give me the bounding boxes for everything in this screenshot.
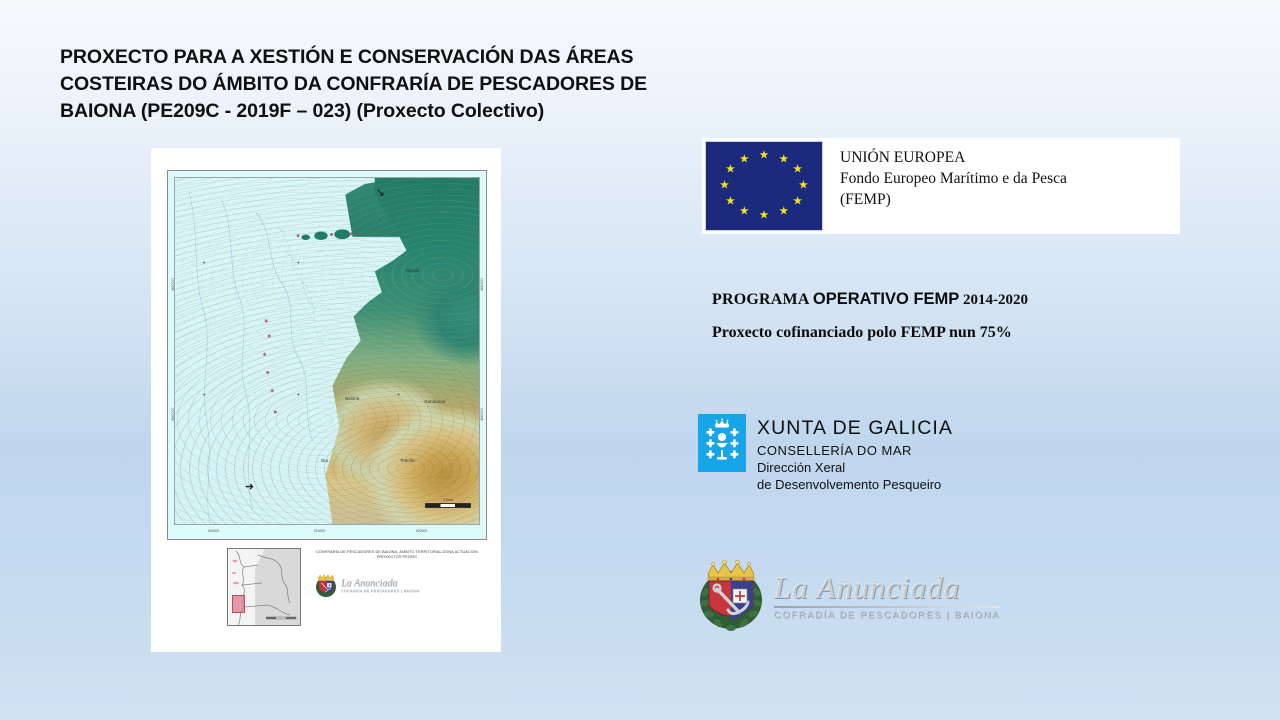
map-scalebar-bar bbox=[425, 503, 471, 508]
programa-line-1: PROGRAMA OPERATIVO FEMP 2014-2020 bbox=[712, 288, 1028, 311]
xunta-emblem-icon bbox=[698, 414, 746, 472]
inset-highlight-area bbox=[232, 595, 245, 614]
map-footer-logo: La Anunciada COFRADÍA DE PESCADORES | BA… bbox=[315, 572, 420, 598]
map-annotation-arrow: ↘ bbox=[376, 188, 385, 199]
cofradia-wordmark-small: La Anunciada COFRADÍA DE PESCADORES | BA… bbox=[341, 578, 420, 593]
map-tick-cross: ✛ bbox=[202, 261, 206, 265]
inset-locator-map bbox=[227, 548, 301, 626]
map-place-label: Oia bbox=[321, 458, 328, 463]
map-axis-label-bottom: 510000 bbox=[314, 529, 325, 533]
map-caption-line-1: CONFRARÍA DE PESCADORES DE BAIONA. ÁMBIT… bbox=[316, 550, 453, 554]
title-line-1: PROXECTO PARA A XESTIÓN E CONSERVACIÓN D… bbox=[60, 44, 700, 71]
map-tick-cross: ✛ bbox=[297, 261, 301, 265]
xunta-text-container: XUNTA DE GALICIA CONSELLERÍA DO MAR Dire… bbox=[757, 414, 953, 493]
cofradia-wordmark: La Anunciada COFRADÍA DE PESCADORES | BA… bbox=[774, 571, 1000, 621]
map-axis-label-left: 4640000 bbox=[171, 408, 175, 421]
eu-flag-icon: ★ ★ ★ ★ ★ ★ ★ ★ ★ ★ ★ ★ bbox=[705, 141, 823, 231]
map-axis-label-left: 4660000 bbox=[171, 278, 175, 291]
eu-line-2: Fondo Europeo Marítimo e da Pesca bbox=[840, 168, 1180, 189]
map-annotation-arrow: ➜ bbox=[245, 482, 254, 493]
programa-femp-block: PROGRAMA OPERATIVO FEMP 2014-2020 Proxec… bbox=[712, 288, 1028, 344]
title-line-3: BAIONA (PE209C - 2019F – 023) (Proxecto … bbox=[60, 98, 700, 125]
programa-years: 2014-2020 bbox=[959, 292, 1028, 308]
cofradia-subtitle: COFRADÍA DE PESCADORES | BAIONA bbox=[774, 610, 1000, 621]
cofradia-logo-block: La Anunciada COFRADÍA DE PESCADORES | BA… bbox=[698, 556, 1000, 632]
map-scalebar: 0 5 km bbox=[425, 498, 471, 508]
cofradia-crest-icon bbox=[315, 572, 337, 598]
map-canvas: ✛ ✛ ✛ ✛ ✛ Nigrán Baiona Gondomar Oia Tom… bbox=[174, 177, 480, 525]
map-axis-label-right: 4640000 bbox=[480, 408, 484, 421]
title-line-2: COSTEIRAS DO ÁMBITO DA CONFRARÍA DE PESC… bbox=[60, 71, 700, 98]
xunta-direccion: Dirección Xeral bbox=[757, 459, 953, 476]
inset-scalebar bbox=[266, 614, 298, 623]
map-scalebar-label: 0 5 km bbox=[425, 498, 471, 502]
xunta-conselleria: CONSELLERÍA DO MAR bbox=[757, 442, 953, 459]
programa-line-2: Proxecto cofinanciado polo FEMP nun 75% bbox=[712, 322, 1028, 344]
map-card-footer: CONFRARÍA DE PESCADORES DE BAIONA. ÁMBIT… bbox=[167, 546, 485, 636]
map-tick-cross: ✛ bbox=[297, 393, 301, 397]
cofradia-crest-icon bbox=[698, 556, 764, 632]
map-islands bbox=[175, 178, 479, 482]
map-caption: CONFRARÍA DE PESCADORES DE BAIONA. ÁMBIT… bbox=[309, 550, 485, 561]
page-title: PROXECTO PARA A XESTIÓN E CONSERVACIÓN D… bbox=[60, 44, 700, 125]
cofradia-subtitle-small: COFRADÍA DE PESCADORES | BAIONA bbox=[341, 589, 420, 593]
programa-prefix: PROGRAMA bbox=[712, 291, 813, 308]
map-axis-label-right: 4660000 bbox=[480, 278, 484, 291]
cofradia-divider bbox=[774, 606, 1000, 608]
eu-text-container: UNIÓN EUROPEA Fondo Europeo Marítimo e d… bbox=[826, 138, 1180, 234]
map-place-label: Gondomar bbox=[424, 399, 445, 404]
xunta-logo-block: XUNTA DE GALICIA CONSELLERÍA DO MAR Dire… bbox=[698, 414, 953, 493]
map-place-label: Nigrán bbox=[406, 268, 420, 273]
eu-line-3: (FEMP) bbox=[840, 189, 1180, 210]
eu-line-1: UNIÓN EUROPEA bbox=[840, 147, 1180, 168]
cofradia-script-text: La Anunciada bbox=[774, 571, 1000, 605]
xunta-departamento: de Desenvolvemento Pesqueiro bbox=[757, 476, 953, 493]
map-tick-cross: ✛ bbox=[202, 393, 206, 397]
map-axis-label-bottom: 520000 bbox=[416, 529, 427, 533]
eu-funding-block: ★ ★ ★ ★ ★ ★ ★ ★ ★ ★ ★ ★ UNIÓN EUROPEA Fo… bbox=[702, 138, 1180, 234]
map-figure: ✛ ✛ ✛ ✛ ✛ Nigrán Baiona Gondomar Oia Tom… bbox=[167, 170, 487, 540]
map-place-label: Baiona bbox=[345, 396, 359, 401]
xunta-title: XUNTA DE GALICIA bbox=[757, 417, 953, 439]
map-tick-cross: ✛ bbox=[397, 393, 401, 397]
cofradia-script-small: La Anunciada bbox=[341, 578, 420, 589]
eu-flag-container: ★ ★ ★ ★ ★ ★ ★ ★ ★ ★ ★ ★ bbox=[702, 138, 826, 234]
slide-root: PROXECTO PARA A XESTIÓN E CONSERVACIÓN D… bbox=[0, 0, 1280, 720]
map-card: ✛ ✛ ✛ ✛ ✛ Nigrán Baiona Gondomar Oia Tom… bbox=[151, 148, 501, 652]
map-axis-label-bottom: 500000 bbox=[208, 529, 219, 533]
programa-bold: OPERATIVO FEMP bbox=[813, 290, 959, 308]
map-place-label: Tomiño bbox=[400, 458, 415, 463]
